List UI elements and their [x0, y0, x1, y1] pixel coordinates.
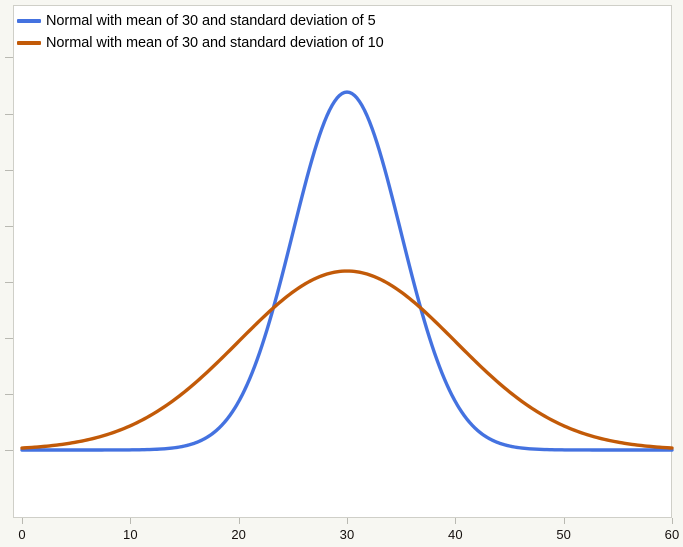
x-tick-label: 0 — [18, 527, 25, 542]
x-tick-mark — [347, 518, 348, 524]
x-tick-mark — [455, 518, 456, 524]
y-tick-mark — [5, 394, 13, 395]
x-tick-mark — [672, 518, 673, 524]
x-tick-label: 60 — [665, 527, 680, 542]
legend-color-swatch-icon — [17, 19, 41, 23]
x-tick-mark — [22, 518, 23, 524]
y-tick-mark — [5, 282, 13, 283]
legend-item[interactable]: Normal with mean of 30 and standard devi… — [17, 10, 447, 32]
y-tick-mark — [5, 338, 13, 339]
x-tick-mark — [239, 518, 240, 524]
chart-container: 0102030405060 Normal with mean of 30 and… — [0, 0, 683, 547]
chart-legend: Normal with mean of 30 and standard devi… — [17, 10, 447, 54]
x-tick-mark — [564, 518, 565, 524]
legend-item-label: Normal with mean of 30 and standard devi… — [46, 13, 376, 29]
y-tick-mark — [5, 114, 13, 115]
y-tick-mark — [5, 170, 13, 171]
legend-item-label: Normal with mean of 30 and standard devi… — [46, 35, 384, 51]
series-curve-2 — [22, 271, 672, 448]
y-tick-mark — [5, 57, 13, 58]
legend-color-swatch-icon — [17, 41, 41, 45]
x-tick-label: 50 — [556, 527, 571, 542]
y-tick-mark — [5, 226, 13, 227]
x-tick-label: 20 — [231, 527, 246, 542]
x-tick-label: 40 — [448, 527, 463, 542]
plot-curves — [13, 5, 672, 518]
x-tick-mark — [130, 518, 131, 524]
x-tick-label: 30 — [340, 527, 355, 542]
y-tick-mark — [5, 450, 13, 451]
legend-item[interactable]: Normal with mean of 30 and standard devi… — [17, 32, 447, 54]
x-tick-label: 10 — [123, 527, 138, 542]
